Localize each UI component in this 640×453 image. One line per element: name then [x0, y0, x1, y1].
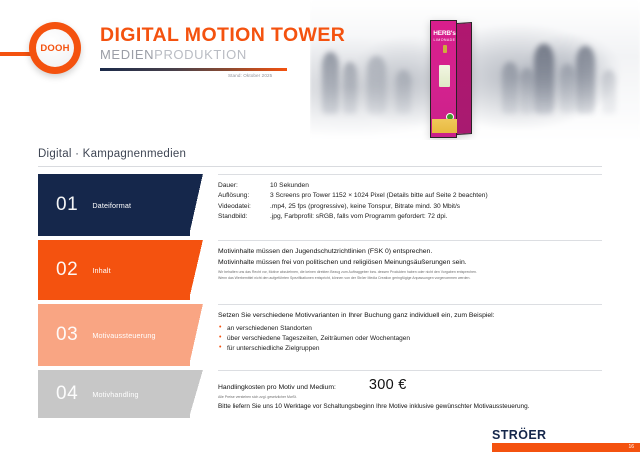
tower-brand-name: HERB's	[433, 30, 455, 37]
row-tab-inhalt: 02 Inhalt	[38, 240, 190, 300]
pedestrian-silhouette	[367, 56, 386, 114]
subtitle-part-2: PRODUKTION	[154, 47, 247, 62]
table-row: 03 Motivaussteuerung Setzen Sie verschie…	[38, 304, 602, 366]
row-label: Dateiformat	[92, 201, 131, 210]
spec-key: Auflösung:	[218, 191, 270, 201]
section-title: Digital · Kampagnenmedien	[38, 148, 186, 160]
dooh-logo-label: DOOH	[40, 43, 69, 54]
table-row: 02 Inhalt Motivinhalte müssen den Jugend…	[38, 240, 602, 300]
spec-item: Dauer: 10 Sekunden	[218, 181, 488, 191]
row-number: 02	[56, 259, 78, 281]
dooh-logo: DOOH	[29, 22, 81, 74]
table-row: 01 Dateiformat Dauer: 10 Sekunden Auflös…	[38, 174, 602, 236]
pedestrian-silhouette	[560, 64, 575, 114]
stroeer-logo: STRÖER	[492, 428, 547, 442]
spec-value: .mp4, 25 fps (progressive), keine Tonspu…	[270, 202, 488, 212]
price-value: 300 €	[369, 377, 407, 393]
pedestrian-silhouette	[343, 62, 357, 114]
row-number: 04	[56, 383, 78, 405]
pedestrian-silhouette	[520, 68, 534, 114]
row-label: Motivhandling	[92, 390, 138, 399]
row-lead-line: Setzen Sie verschiedene Motivvarianten i…	[218, 311, 602, 322]
row-label: Motivaussteuerung	[92, 331, 155, 340]
spec-item: Videodatei: .mp4, 25 fps (progressive), …	[218, 202, 488, 212]
subtitle-part-1: MEDIEN	[100, 47, 154, 62]
pedestrian-silhouette	[502, 62, 518, 114]
row-label: Inhalt	[92, 266, 110, 275]
pedestrian-silhouette	[602, 70, 616, 114]
hero-image: HERB's LIMONADE	[310, 0, 640, 140]
row-lead-line: Motivinhalte müssen frei von politischen…	[218, 258, 602, 269]
row-fine-print: Alle Preise verstehen sich zzgl. gesetzl…	[218, 395, 602, 400]
spec-item: Auflösung: 3 Screens pro Tower 1152 × 10…	[218, 191, 488, 201]
page-number: 16	[628, 444, 634, 450]
row-content: Motivinhalte müssen den Jugendschutzrich…	[218, 240, 602, 300]
row-content: Setzen Sie verschiedene Motivvarianten i…	[218, 304, 602, 366]
title-block: DIGITAL MOTION TOWER MEDIENPRODUKTION	[100, 24, 345, 63]
row-fine-print: Wir behalten uns das Recht vor, Motive a…	[218, 270, 602, 275]
pedestrian-silhouette	[534, 44, 554, 114]
section-divider	[38, 166, 602, 167]
delivery-footnote: Bitte liefern Sie uns 10 Werktage vor Sc…	[218, 403, 529, 410]
spec-value: .jpg, Farbprofil: sRGB, falls vom Progra…	[270, 212, 488, 222]
spec-key: Dauer:	[218, 181, 270, 191]
list-item: über verschiedene Tageszeiten, Zeiträume…	[218, 334, 602, 344]
row-tab-notch	[190, 174, 204, 236]
row-tab-notch	[190, 370, 204, 418]
row-tab-motivhandling: 04 Motivhandling	[38, 370, 190, 418]
page-subtitle: MEDIENPRODUKTION	[100, 47, 345, 63]
bullet-list: an verschiedenen Standorten über verschi…	[218, 324, 602, 354]
page-title: DIGITAL MOTION TOWER	[100, 24, 345, 46]
dooh-logo-inner: DOOH	[36, 29, 74, 67]
page-header: HERB's LIMONADE DOOH DIGITAL MOTION TOWE…	[0, 0, 640, 140]
digital-motion-tower-mockup: HERB's LIMONADE	[430, 20, 472, 138]
tower-brand-label: HERB's LIMONADE	[433, 30, 456, 44]
spec-rows: 01 Dateiformat Dauer: 10 Sekunden Auflös…	[38, 174, 602, 418]
footer-accent-bar	[492, 443, 640, 452]
tower-side-panel	[457, 22, 472, 135]
table-row: 04 Motivhandling Handlingkosten pro Moti…	[38, 370, 602, 418]
slide-page: HERB's LIMONADE DOOH DIGITAL MOTION TOWE…	[0, 0, 640, 453]
row-tab-motivaussteuerung: 03 Motivaussteuerung	[38, 304, 190, 366]
spec-item: Standbild: .jpg, Farbprofil: sRGB, falls…	[218, 212, 488, 222]
tower-front-panel: HERB's LIMONADE	[430, 20, 457, 138]
row-fine-print: Wenn das Werbemittel nicht den aufgeführ…	[218, 276, 602, 281]
list-item: für unterschiedliche Zielgruppen	[218, 344, 602, 354]
row-tab-notch	[190, 304, 204, 366]
spec-key: Standbild:	[218, 212, 270, 222]
row-tab-dateiformat: 01 Dateiformat	[38, 174, 190, 236]
spec-value: 10 Sekunden	[270, 181, 488, 191]
row-number: 01	[56, 194, 78, 216]
row-number: 03	[56, 324, 78, 346]
bottle-label	[439, 65, 450, 87]
spec-key: Videodatei:	[218, 202, 270, 212]
pedestrian-silhouette	[396, 70, 411, 114]
list-item: an verschiedenen Standorten	[218, 324, 602, 334]
tower-brand-sub: LIMONADE	[433, 37, 456, 44]
stand-date: Stand: Oktober 2025	[228, 73, 272, 78]
price-row: Handlingkosten pro Motiv und Medium: 300…	[218, 377, 602, 393]
spec-table: Dauer: 10 Sekunden Auflösung: 3 Screens …	[218, 181, 488, 223]
row-tab-notch	[190, 240, 204, 300]
pedestrian-silhouette	[576, 46, 595, 114]
row-content: Handlingkosten pro Motiv und Medium: 300…	[218, 370, 602, 418]
price-label: Handlingkosten pro Motiv und Medium:	[218, 384, 336, 391]
spec-value: 3 Screens pro Tower 1152 × 1024 Pixel (D…	[270, 191, 488, 201]
title-divider	[100, 68, 287, 71]
tower-footer-band	[432, 119, 457, 133]
row-content: Dauer: 10 Sekunden Auflösung: 3 Screens …	[218, 174, 602, 236]
row-lead-line: Motivinhalte müssen den Jugendschutzrich…	[218, 247, 602, 258]
